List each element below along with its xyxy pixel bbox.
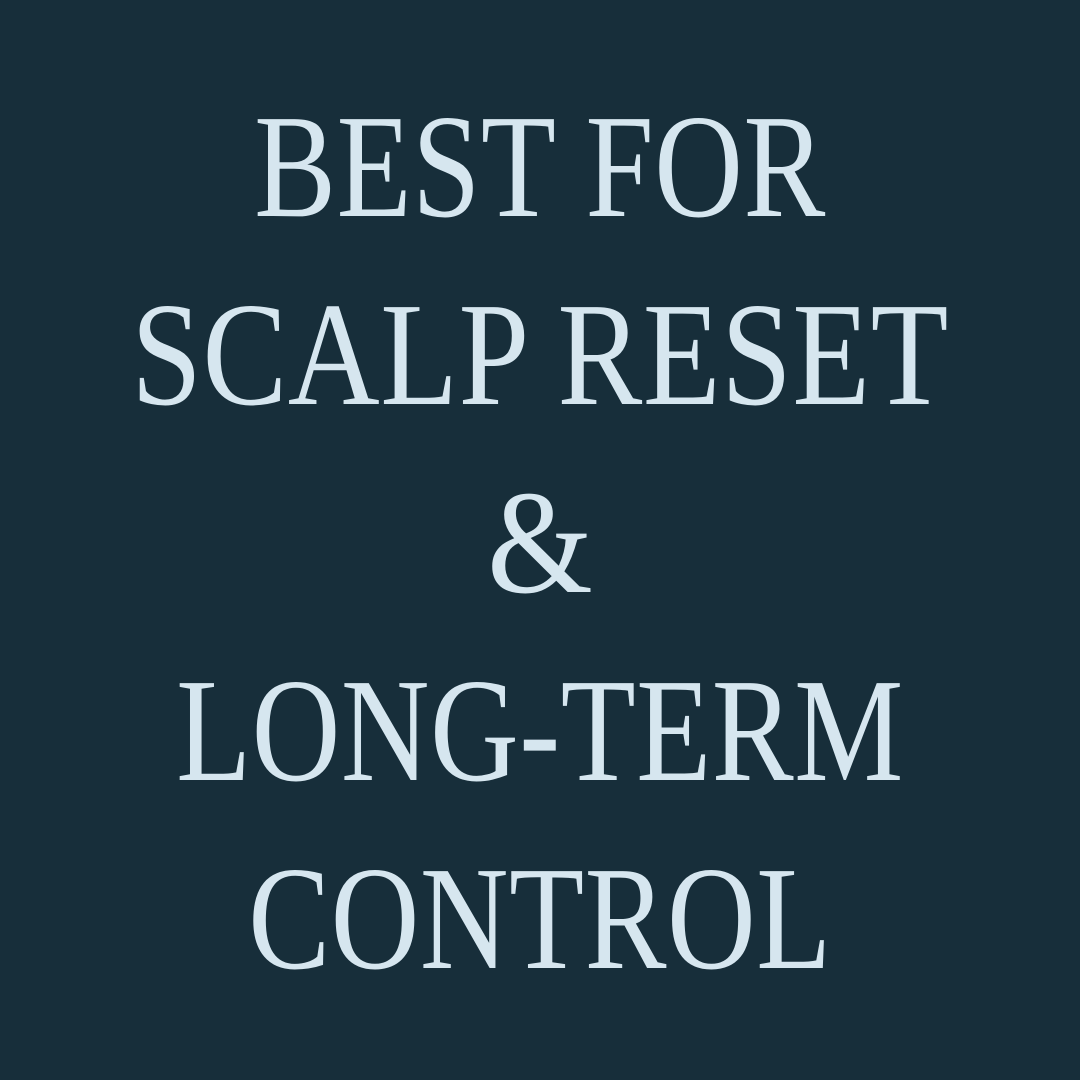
headline-block: BEST FOR SCALP RESET & LONG-TERM CONTROL: [0, 67, 1080, 1013]
headline-ampersand: &: [43, 449, 1037, 637]
headline-line-1: BEST FOR: [92, 73, 988, 261]
headline-line-5: CONTROL: [92, 825, 988, 1013]
title-card: BEST FOR SCALP RESET & LONG-TERM CONTROL: [0, 0, 1080, 1080]
headline-line-4: LONG-TERM: [92, 637, 988, 825]
headline-line-2: SCALP RESET: [76, 261, 1005, 449]
